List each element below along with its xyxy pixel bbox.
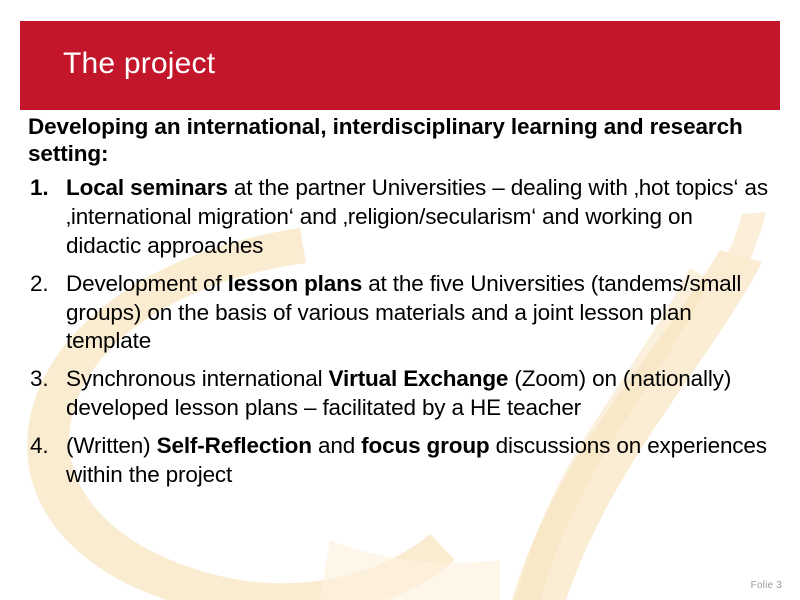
slide: The project Developing an international,… xyxy=(0,0,800,600)
plain-text: (Written) xyxy=(66,433,157,458)
list-item-text: (Written) Self-Reflection and focus grou… xyxy=(66,433,767,487)
list-item-number: 2. xyxy=(30,270,60,299)
list-item-number: 1. xyxy=(30,174,60,203)
title-banner: The project xyxy=(20,21,780,110)
emphasis-text: focus group xyxy=(361,433,489,458)
list-item-text: Development of lesson plans at the five … xyxy=(66,271,741,354)
list-item: 1.Local seminars at the partner Universi… xyxy=(28,174,772,261)
emphasis-text: Virtual Exchange xyxy=(329,366,509,391)
lead-paragraph: Developing an international, interdiscip… xyxy=(28,113,772,168)
list-item: 3.Synchronous international Virtual Exch… xyxy=(28,365,772,423)
page-title: The project xyxy=(63,47,215,81)
plain-text: Development of xyxy=(66,271,228,296)
emphasis-text: Local seminars xyxy=(66,175,228,200)
list-item-number: 4. xyxy=(30,432,60,461)
list-item: 2.Development of lesson plans at the fiv… xyxy=(28,270,772,357)
plain-text: Synchronous international xyxy=(66,366,329,391)
slide-number: Folie 3 xyxy=(751,580,782,591)
list-item-text: Synchronous international Virtual Exchan… xyxy=(66,366,731,420)
list-item: 4.(Written) Self-Reflection and focus gr… xyxy=(28,432,772,490)
slide-body: Developing an international, interdiscip… xyxy=(28,113,772,499)
list-item-number: 3. xyxy=(30,365,60,394)
plain-text: and xyxy=(312,433,361,458)
emphasis-text: Self-Reflection xyxy=(157,433,312,458)
emphasis-text: lesson plans xyxy=(228,271,363,296)
numbered-list: 1.Local seminars at the partner Universi… xyxy=(28,174,772,490)
list-item-text: Local seminars at the partner Universiti… xyxy=(66,175,768,258)
